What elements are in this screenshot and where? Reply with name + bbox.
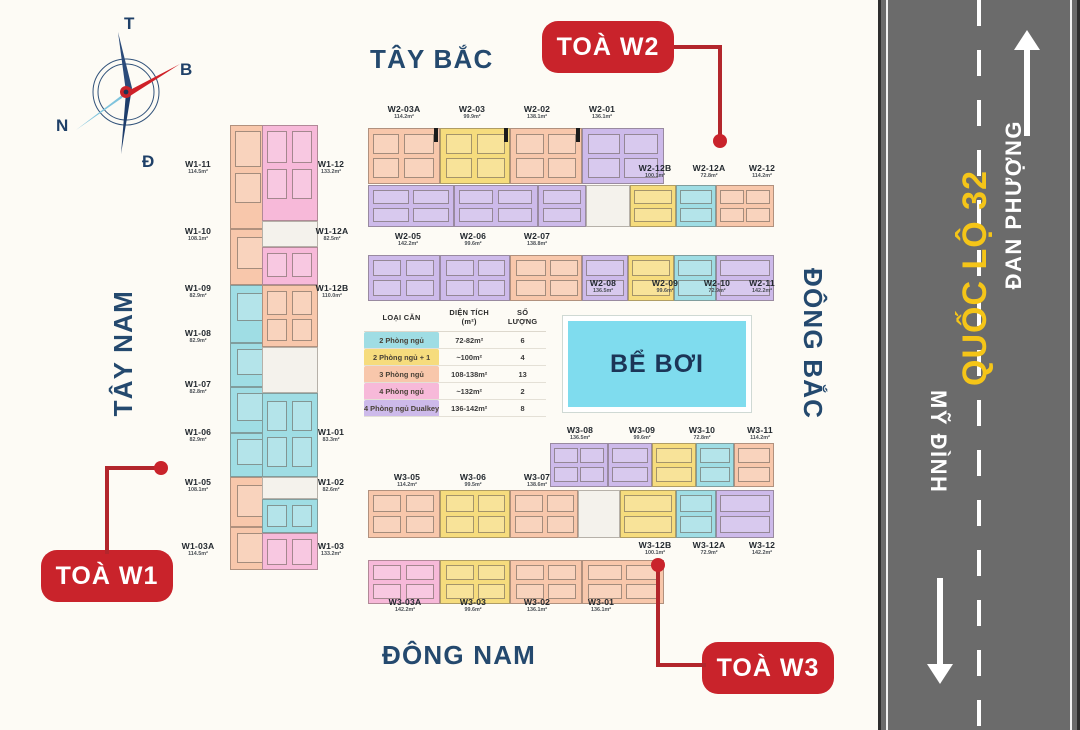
direction-label-northwest: TÂY BẮC <box>370 44 493 75</box>
unit-label-w1-05: W1-05 108.1m² <box>170 477 226 494</box>
site-map-canvas: T B Đ N TÂY BẮC ĐÔNG NAM TÂY NAM ĐÔNG BẮ… <box>0 0 1080 730</box>
unit-label-w2-09: W2-09 99.6m² <box>635 278 695 295</box>
legend-area-4br: ~132m² <box>439 383 499 400</box>
legend-area-4br-dualkey: 136-142m² <box>439 400 499 417</box>
unit-label-w1-06: W1-06 82.9m² <box>170 427 226 444</box>
unit-label-w2-12: W2-12 114.2m² <box>733 163 791 180</box>
unit-label-w3-05: W3-05 114.2m² <box>377 472 437 489</box>
unit-label-w1-02: W1-02 82.6m² <box>303 477 359 494</box>
unit-label-w3-12b: W3-12B 100.1m² <box>624 540 686 557</box>
direction-label-southwest: TÂY NAM <box>108 290 138 416</box>
unit-label-w2-03a: W2-03A 114.2m² <box>372 104 436 121</box>
tower-w1-core-stack <box>262 125 318 570</box>
legend-swatch-2br: 2 Phòng ngủ <box>364 332 439 349</box>
legend-qty-4br-dualkey: 8 <box>499 400 546 417</box>
unit-label-w1-01: W1-01 83.3m² <box>303 427 359 444</box>
unit-label-w2-01: W2-01 136.1m² <box>572 104 632 121</box>
unit-label-w1-12b: W1-12B 110.0m² <box>303 283 361 300</box>
road-direction-north: ĐAN PHƯỢNG <box>1001 120 1027 289</box>
tower-w3-row2 <box>368 490 774 538</box>
unit-label-w3-12: W3-12 142.2m² <box>733 540 791 557</box>
legend-header-area: DIỆN TÍCH (m²) <box>439 305 499 332</box>
unit-label-w1-09: W1-09 82.9m² <box>170 283 226 300</box>
unit-label-w2-02: W2-02 138.1m² <box>507 104 567 121</box>
swimming-pool-area: BỂ BƠI <box>563 316 751 412</box>
unit-label-w1-11: W1-11 114.5m² <box>170 159 226 176</box>
tower-w3-row1 <box>550 443 774 487</box>
unit-label-w1-10: W1-10 108.1m² <box>170 226 226 243</box>
unit-label-w1-12: W1-12 133.2m² <box>303 159 359 176</box>
compass-label-east: B <box>180 60 192 80</box>
unit-label-w3-11: W3-11 114.2m² <box>731 425 789 442</box>
legend-row: 4 Phòng ngủ ~132m² 2 <box>364 383 546 400</box>
unit-label-w1-03a: W1-03A 114.5m² <box>168 541 228 558</box>
direction-label-southeast: ĐÔNG NAM <box>382 640 536 671</box>
unit-label-w2-06: W2-06 99.6m² <box>443 231 503 248</box>
unit-label-w3-08: W3-08 136.5m² <box>550 425 610 442</box>
unit-type-legend: LOẠI CĂN DIỆN TÍCH (m²) SỐ LƯỢNG 2 Phòng… <box>364 305 546 417</box>
unit-label-w1-03: W1-03 133.2m² <box>303 541 359 558</box>
unit-label-w1-08: W1-08 82.9m² <box>170 328 226 345</box>
compass-label-south: Đ <box>142 152 154 172</box>
road-edge-left <box>886 0 888 730</box>
unit-label-w2-12a: W2-12A 72.8m² <box>678 163 740 180</box>
unit-label-w3-10: W3-10 72.8m² <box>673 425 731 442</box>
unit-label-w3-01: W3-01 136.1m² <box>571 597 631 614</box>
legend-area-2br: 72-82m² <box>439 332 499 349</box>
highway-name-label: QUỐC LỘ 32 <box>956 170 995 386</box>
tower-badge-w1[interactable]: TOÀ W1 <box>41 550 173 602</box>
legend-header-type: LOẠI CĂN <box>364 305 439 332</box>
legend-swatch-2br-plus: 2 Phòng ngủ + 1 <box>364 349 439 366</box>
unit-label-w2-08: W2-08 136.5m² <box>573 278 633 295</box>
unit-label-w3-02: W3-02 136.1m² <box>507 597 567 614</box>
road-direction-south: MỸ ĐÌNH <box>925 390 951 493</box>
unit-label-w3-12a: W3-12A 72.9m² <box>678 540 740 557</box>
highway-panel: ĐAN PHƯỢNG QUỐC LỘ 32 MỸ ĐÌNH <box>878 0 1080 730</box>
legend-swatch-4br-dualkey: 4 Phòng ngủ Dualkey <box>364 400 439 417</box>
unit-label-w3-09: W3-09 99.6m² <box>612 425 672 442</box>
pool-label: BỂ BƠI <box>610 350 704 379</box>
legend-header-qty: SỐ LƯỢNG <box>499 305 546 332</box>
tower-w2-row2 <box>368 185 774 227</box>
unit-label-w2-03: W2-03 99.9m² <box>442 104 502 121</box>
tower-badge-w2[interactable]: TOÀ W2 <box>542 21 674 73</box>
direction-label-northeast: ĐÔNG BẮC <box>798 268 828 419</box>
legend-row: 3 Phòng ngủ 108-138m² 13 <box>364 366 546 383</box>
legend-row: 4 Phòng ngủ Dualkey 136-142m² 8 <box>364 400 546 417</box>
legend-qty-4br: 2 <box>499 383 546 400</box>
unit-label-w1-07: W1-07 82.8m² <box>170 379 226 396</box>
unit-label-w2-05: W2-05 142.2m² <box>378 231 438 248</box>
legend-row: 2 Phòng ngủ 72-82m² 6 <box>364 332 546 349</box>
unit-label-w3-03: W3-03 99.6m² <box>443 597 503 614</box>
unit-label-w2-11: W2-11 142.2m² <box>733 278 791 295</box>
arrow-down-icon <box>927 578 953 684</box>
legend-header-row: LOẠI CĂN DIỆN TÍCH (m²) SỐ LƯỢNG <box>364 305 546 332</box>
tower-w2-row1 <box>368 128 664 184</box>
unit-label-w2-12b: W2-12B 100.1m² <box>624 163 686 180</box>
legend-qty-2br: 6 <box>499 332 546 349</box>
unit-label-w3-03a: W3-03A 142.2m² <box>373 597 437 614</box>
road-edge-right <box>1070 0 1072 730</box>
legend-swatch-3br: 3 Phòng ngủ <box>364 366 439 383</box>
compass-needle-icon <box>74 26 184 161</box>
legend-qty-2br-plus: 4 <box>499 349 546 366</box>
compass-rose: T B Đ N <box>52 8 202 173</box>
legend-qty-3br: 13 <box>499 366 546 383</box>
legend-swatch-4br: 4 Phòng ngủ <box>364 383 439 400</box>
compass-label-west: N <box>56 116 68 136</box>
legend-area-2br-plus: ~100m² <box>439 349 499 366</box>
unit-label-w2-07: W2-07 138.8m² <box>507 231 567 248</box>
tower-badge-w3[interactable]: TOÀ W3 <box>702 642 834 694</box>
unit-label-w3-07: W3-07 138.6m² <box>507 472 567 489</box>
unit-label-w1-12a: W1-12A 82.5m² <box>303 226 361 243</box>
unit-label-w3-06: W3-06 99.5m² <box>443 472 503 489</box>
legend-area-3br: 108-138m² <box>439 366 499 383</box>
legend-row: 2 Phòng ngủ + 1 ~100m² 4 <box>364 349 546 366</box>
compass-label-north: T <box>124 14 134 34</box>
